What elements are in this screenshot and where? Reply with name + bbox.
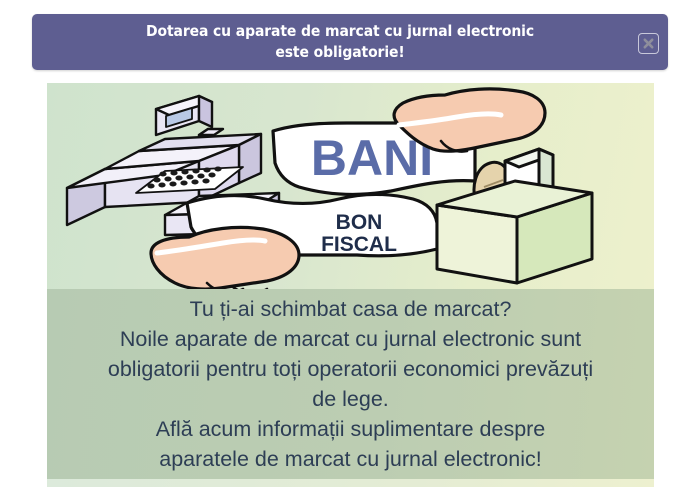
promo-banner: Dotarea cu aparate de marcat cu jurnal e…	[32, 14, 668, 70]
banner-title: Dotarea cu aparate de marcat cu jurnal e…	[72, 21, 608, 63]
hand-lower-graphic	[151, 227, 299, 289]
promo-band-footer	[47, 479, 654, 487]
promo-text-band: Tu ți-ai schimbat casa de marcat? Noile …	[47, 289, 654, 479]
receipt-label-line1: BON	[336, 211, 383, 234]
close-button[interactable]	[638, 33, 659, 54]
promo-illustration: BANI BON FISCAL	[47, 83, 654, 289]
hand-upper-graphic	[394, 89, 545, 152]
close-icon	[642, 37, 655, 50]
promo-image[interactable]: BANI BON FISCAL	[47, 83, 654, 487]
promo-message: Tu ți-ai schimbat casa de marcat? Noile …	[102, 294, 599, 474]
receipt-label-line2: FISCAL	[321, 233, 397, 256]
